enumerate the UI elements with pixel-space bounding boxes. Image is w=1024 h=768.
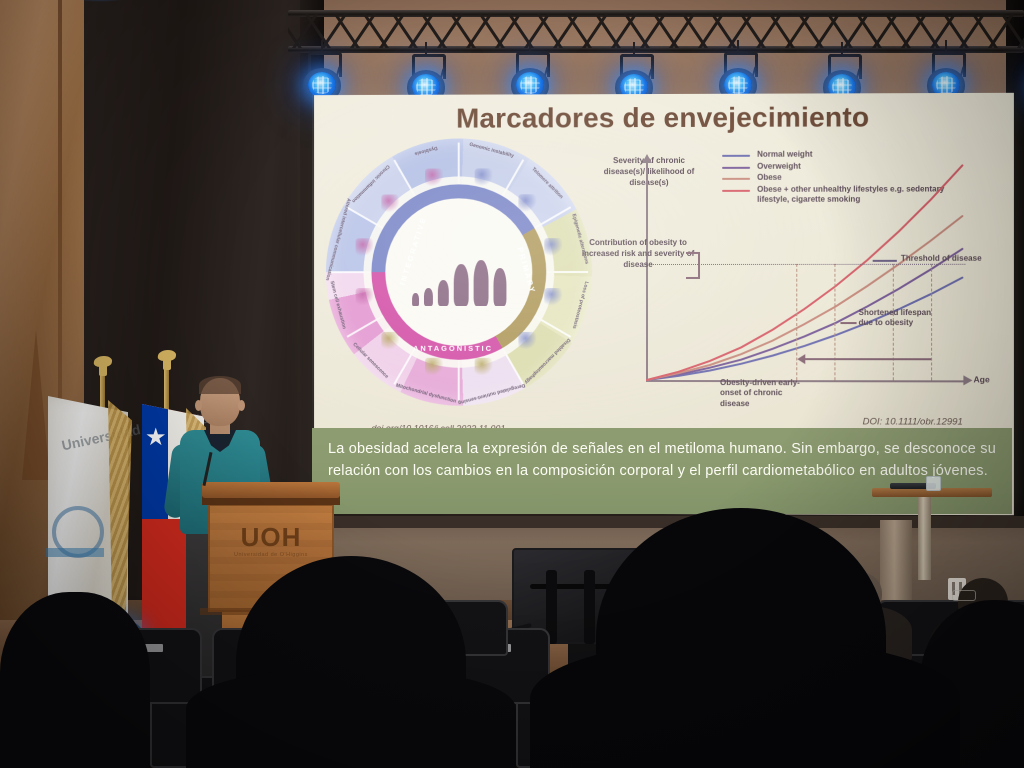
flagpole-finial-university (94, 356, 112, 376)
wheel-icon-loss-of-proteostasis (544, 288, 562, 306)
wheel-icon-genomic-instability (475, 169, 493, 187)
truss-lattice (288, 14, 1024, 48)
wheel-icon-stem-cell-exhaustion (356, 288, 374, 306)
wheel-icon-telomere-attrition (519, 194, 537, 212)
podium-logo-subtitle: Universidad de O'Higgins (208, 552, 334, 558)
disease-severity-chart: Severity of chronic disease(s)/ likeliho… (600, 145, 1000, 425)
wheel-label-antagonistic: ANTAGONISTIC (413, 344, 493, 353)
chart-annotation-contribution: Contribution of obesity to increased ris… (578, 238, 698, 270)
slide-doi-right: DOI: 10.1111/obr.12991 (863, 416, 963, 427)
wheel-icon-mitochondrial-dysfunction (425, 357, 443, 375)
wheel-icon-deregulated-nutrient-sensing (475, 357, 493, 375)
chart-short-leader (840, 322, 856, 324)
chart-vline-b (834, 264, 835, 380)
chile-flag-star-icon: ★ (145, 426, 167, 450)
wheel-icon-dysbiosis (425, 169, 443, 187)
chart-annotation-threshold: Threshold of disease (901, 254, 988, 265)
university-flag-stripe (46, 548, 104, 557)
stage-light-led-grid (520, 76, 540, 94)
stage-light-led-grid (728, 76, 748, 94)
speaker-ear-right (238, 400, 245, 411)
water-glass (926, 476, 941, 491)
wheel-icon-cellular-senescence (381, 332, 399, 350)
silhouette-foreground-left-shoulders (186, 670, 516, 768)
chart-series-line (647, 278, 962, 381)
attendee-glasses-icon (952, 590, 976, 601)
stage-light-led-grid (416, 78, 436, 96)
chart-threshold-swatch (873, 260, 897, 262)
chart-bracket-left-bot (686, 277, 700, 279)
stage-light-led-grid (312, 76, 332, 94)
wheel-icon-altered-intercellular-communication (356, 238, 374, 256)
chart-series-line (647, 165, 962, 380)
slide-title: Marcadores de envejecimiento (314, 101, 1014, 135)
chart-annotation-shortened-lifespan: Shortened lifespan due to obesity (859, 308, 944, 329)
chart-bracket-left-top (686, 252, 700, 254)
speaker-ear-left (195, 400, 202, 411)
wheel-icon-disabled-macroautophagy (519, 332, 537, 350)
silhouette-foreground-center-shoulders (530, 640, 960, 768)
chart-lifespan-arrow (804, 358, 931, 360)
side-table-leg (918, 496, 931, 580)
monitor-bracket-right (584, 570, 595, 644)
wood-panel-accent (22, 330, 50, 480)
chart-bracket-left-vert (698, 252, 700, 278)
stage-light-led-grid (936, 76, 956, 94)
flagpole-finial-chile (158, 350, 176, 370)
chart-annotation-early-onset: Obesity-driven early-onset of chronic di… (720, 378, 806, 409)
speaker-hair (199, 376, 241, 394)
hallmarks-of-aging-wheel: PRIMARY ANTAGONISTIC INTEGRATIVE Genomic… (326, 138, 596, 410)
wheel-icon-chronic-inflammation (381, 194, 399, 212)
side-table (872, 488, 992, 580)
silhouette-foreground-far-left (0, 592, 150, 768)
conference-photo: Marcadores de envejecimiento PRIMARY ANT… (0, 0, 1024, 768)
monitor-blue-glow (70, 0, 130, 2)
podium-logo: UOH (208, 522, 334, 553)
podium-top-surface (202, 482, 340, 498)
wheel-icon-epigenetic-alterations (544, 238, 562, 256)
lighting-truss (288, 6, 1024, 68)
